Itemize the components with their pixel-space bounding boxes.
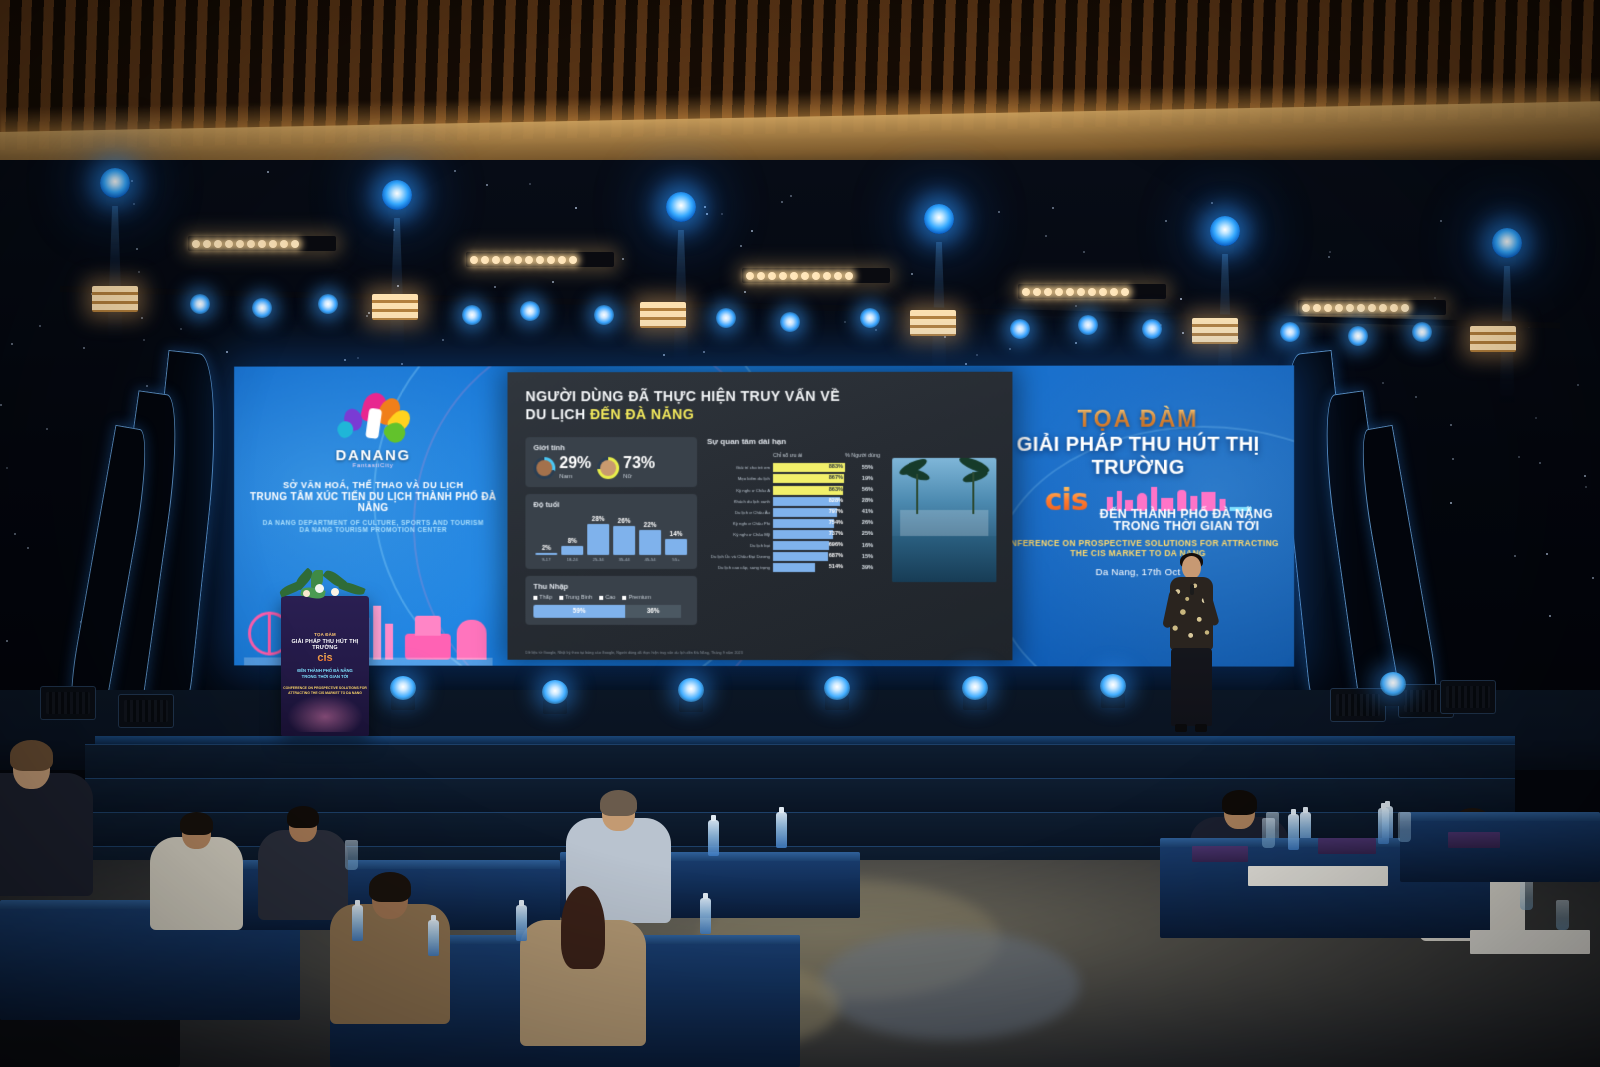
brand-line-4: DA NANG TOURISM PROMOTION CENTER [299, 527, 447, 534]
audience-hair [10, 740, 53, 771]
interest-index-value: 863% [829, 486, 843, 495]
drinking-glass [1556, 900, 1569, 930]
vip-name-card [1318, 838, 1376, 854]
danang-logo-icon [337, 392, 409, 444]
gender-stat-female: 73%Nữ [597, 456, 655, 480]
audience-hair [287, 806, 318, 828]
slide-title-line2-plain: DU LỊCH [525, 407, 589, 423]
interest-row-label: Du lịch Úc và Châu Đại Dương [707, 554, 773, 559]
floor-moving-head [960, 676, 990, 710]
par-spotlight [318, 294, 338, 314]
avatar [600, 460, 616, 476]
star-pinpoint [11, 343, 13, 345]
star-pinpoint [141, 317, 143, 319]
par-spotlight [1412, 322, 1432, 342]
vip-name-card [1448, 832, 1500, 848]
interest-row-label: Du lịch bụi [707, 543, 773, 548]
age-bar-label-cell: 9-17 [535, 555, 557, 562]
par-spotlight [1280, 322, 1300, 342]
interest-heading: Sự quan tâm dài hạn [707, 437, 996, 446]
water-bottle [1288, 814, 1299, 850]
led-strip-bar [742, 268, 890, 283]
event-english-line-1: CONFERENCE ON PROSPECTIVE SOLUTIONS FOR … [992, 538, 1284, 548]
gender-label: Nam [559, 473, 591, 480]
interest-row-label: Du lịch ở Châu Âu [707, 510, 773, 515]
event-subhead: GIẢI PHÁP THU HÚT THỊ TRƯỜNG [992, 434, 1284, 480]
floor-moving-head [822, 676, 852, 710]
interest-bar-cell: 696% [773, 541, 845, 550]
star-pinpoint [706, 213, 708, 215]
interest-index-value: 754% [829, 519, 843, 528]
document-papers [1248, 866, 1388, 886]
moving-head-spotlight [382, 180, 412, 218]
audience-hair [180, 812, 212, 835]
led-strip-bar [1298, 300, 1446, 315]
podium-flower-arrangement [275, 570, 375, 604]
income-heading: Thu Nhập [533, 582, 689, 591]
legend-swatch-icon [533, 596, 537, 600]
age-bar-value: 14% [670, 531, 683, 538]
drinking-glass [1398, 812, 1411, 842]
water-bottle [352, 905, 363, 941]
interest-bar [773, 508, 837, 517]
interest-bar [773, 552, 828, 561]
warm-blinder-panel [372, 294, 418, 320]
star-pinpoint [1083, 251, 1085, 253]
interest-index-value: 737% [829, 530, 843, 539]
audience-hair [1222, 790, 1256, 815]
vip-name-card [1192, 846, 1248, 862]
gender-label: Nữ [623, 473, 655, 480]
star-pinpoint [83, 347, 85, 349]
age-bar [613, 526, 635, 555]
star-pinpoint [1577, 384, 1579, 386]
interest-row-label: Kỳ nghỉ ở Châu Phi [707, 521, 773, 526]
income-segment: 59% [533, 605, 625, 618]
age-bar-label-cell: 25-34 [587, 555, 609, 562]
floor-moving-head [388, 676, 418, 710]
stage-wing-left [88, 352, 238, 732]
interest-row-label: Giải trí cho trẻ em [707, 465, 773, 470]
interest-col2-header: % Người dùng [845, 453, 880, 459]
par-spotlight [780, 312, 800, 332]
floor-moving-head [540, 680, 570, 714]
interest-users-value: 55% [845, 465, 873, 471]
interest-users-value: 25% [845, 531, 873, 537]
gender-ring-icon [597, 457, 619, 479]
drinking-glass [345, 840, 358, 870]
interest-bar-cell: 797% [773, 508, 845, 517]
interest-users-value: 15% [845, 554, 873, 560]
legend-swatch-icon [559, 596, 563, 600]
podium-line-1: TỌA ĐÀM [281, 632, 369, 637]
interest-bar [773, 541, 829, 550]
age-range-label: 25-34 [593, 557, 604, 562]
interest-index-value: 867% [829, 474, 843, 483]
star-pinpoint [751, 230, 753, 232]
age-bar-value: 8% [568, 538, 577, 545]
warm-blinder-panel [910, 310, 956, 336]
star-pinpoint [1165, 220, 1167, 222]
interest-users-value: 16% [845, 543, 873, 549]
water-bottle [776, 812, 787, 848]
star-pinpoint [1450, 502, 1452, 504]
age-bar-column: 26% [613, 513, 635, 555]
led-strip-bar [1018, 284, 1166, 299]
interest-bar-cell: 687% [773, 552, 845, 561]
presenter-trousers [1171, 648, 1212, 726]
income-legend-item: Cao [599, 595, 615, 601]
brand-line-2: TRUNG TÂM XÚC TIẾN DU LỊCH THÀNH PHỐ ĐÀ … [240, 492, 506, 514]
slide-title: NGƯỜI DÙNG ĐÃ THỰC HIỆN TRUY VẤN VỀ DU L… [525, 388, 996, 425]
interest-row-label: Du lịch cao cấp, sang trọng [707, 565, 773, 570]
document-papers [1470, 930, 1590, 954]
slide-footer-note: Dữ liệu từ Google, Nhật ký theo tại bảng… [525, 651, 742, 655]
age-bar-value: 28% [592, 516, 605, 523]
star-pinpoint [744, 291, 746, 293]
event-english-line-2: THE CIS MARKET TO DA NANG [992, 548, 1284, 558]
moving-head-spotlight [666, 192, 696, 230]
led-strip-bar [188, 236, 336, 251]
resort-photo [892, 458, 996, 582]
interest-index-value: 687% [829, 552, 843, 561]
star-pinpoint [1075, 342, 1077, 344]
age-bar-column: 14% [665, 513, 687, 555]
gender-heading: Giới tính [533, 443, 689, 452]
star-pinpoint [366, 315, 368, 317]
interest-bar-cell: 737% [773, 530, 845, 539]
age-bar-value: 26% [618, 518, 631, 525]
interest-bar-cell: 828% [773, 497, 845, 506]
water-bottle [708, 820, 719, 856]
star-pinpoint [1045, 235, 1047, 237]
star-pinpoint [1592, 577, 1594, 579]
event-headline: TỌA ĐÀM [992, 406, 1284, 433]
audience-torso [0, 773, 93, 896]
star-pinpoint [1450, 424, 1452, 426]
income-legend-item: Premium [623, 595, 651, 601]
podium-line-4: TRONG THỜI GIAN TỚI [281, 674, 369, 679]
interest-row-label: Kỳ nghỉ ở Châu Mỹ [707, 532, 773, 537]
cis-logo: cis [1045, 483, 1088, 518]
interest-bar-cell: 754% [773, 519, 845, 528]
star-pinpoint [1075, 305, 1077, 307]
age-bar-label-cell: 55+ [665, 555, 687, 562]
slide-title-line1: NGƯỜI DÙNG ĐÃ THỰC HIỆN TRUY VẤN VỀ [525, 389, 840, 405]
age-heading: Độ tuổi [533, 500, 689, 509]
star-pinpoint [138, 271, 140, 273]
vip-table [1400, 812, 1600, 882]
water-bottle [428, 920, 439, 956]
audience-member [0, 740, 93, 906]
par-spotlight [462, 305, 482, 325]
age-card: Độ tuổi 2%8%28%26%22%14% 9-1718-2425-343… [525, 494, 697, 569]
star-pinpoint [1052, 207, 1054, 209]
income-segment: 36% [625, 605, 681, 618]
danang-wordmark: DANANG [336, 447, 411, 464]
stage-monitor-speaker [1440, 680, 1496, 714]
age-bar [639, 530, 661, 555]
moving-head-spotlight [1492, 228, 1522, 266]
gender-percent: 73% [623, 456, 655, 472]
age-range-label: 35-44 [619, 557, 630, 562]
star-pinpoint [1009, 348, 1011, 350]
podium-line-2: GIẢI PHÁP THU HÚT THỊ TRƯỜNG [281, 639, 369, 651]
star-pinpoint [6, 640, 8, 642]
interest-index-value: 797% [829, 508, 843, 517]
par-spotlight [520, 301, 540, 321]
moving-head-spotlight [924, 204, 954, 242]
star-pinpoint [131, 180, 133, 182]
gender-card: Giới tính 29%Nam73%Nữ [525, 437, 697, 487]
age-range-label: 18-24 [567, 557, 578, 562]
par-spotlight [1348, 326, 1368, 346]
event-title-panel: TỌA ĐÀM GIẢI PHÁP THU HÚT THỊ TRƯỜNG cis [992, 406, 1284, 579]
par-spotlight [860, 308, 880, 328]
star-pinpoint [1584, 475, 1586, 477]
gender-ring-icon [533, 457, 555, 479]
star-pinpoint [663, 354, 665, 356]
par-spotlight [190, 294, 210, 314]
interest-row-label: Mẹo kiểm du lịch [707, 476, 773, 481]
star-pinpoint [401, 363, 403, 365]
floor-moving-head [676, 678, 706, 712]
interest-row-label: Kỳ nghỉ ở Châu Á [707, 488, 773, 493]
age-bar-value: 2% [542, 545, 551, 552]
par-spotlight [594, 305, 614, 325]
gender-stat-male: 29%Nam [533, 456, 591, 480]
interest-index-value: 883% [829, 463, 843, 472]
slide-title-highlight: ĐẾN ĐÀ NẴNG [590, 407, 694, 423]
moving-head-spotlight [1210, 216, 1240, 254]
floor-moving-head [1098, 674, 1128, 708]
star-pinpoint [1434, 297, 1436, 299]
stage-monitor-speaker [118, 694, 174, 728]
par-spotlight [1078, 315, 1098, 335]
audience-hair [600, 790, 636, 816]
age-range-label: 9-17 [542, 557, 551, 562]
age-bar [561, 546, 583, 555]
age-bar-column: 28% [587, 513, 609, 555]
age-bar-value: 22% [644, 522, 657, 529]
audience-hair [561, 886, 605, 969]
stage-edge-light [95, 736, 1515, 744]
star-pinpoint [875, 329, 877, 331]
interest-users-value: 26% [845, 520, 873, 526]
legend-swatch-icon [599, 596, 603, 600]
star-pinpoint [1514, 555, 1516, 557]
audience-member [520, 886, 646, 1056]
par-spotlight [252, 298, 272, 318]
stage-wing-right [1286, 352, 1446, 732]
avatar [536, 460, 552, 476]
stage-monitor-speaker [40, 686, 96, 720]
interest-index-value: 828% [829, 497, 843, 506]
income-legend-item: Thấp [533, 595, 552, 601]
podium-cis-logo: cis [281, 652, 369, 664]
speaker-podium: TỌA ĐÀM GIẢI PHÁP THU HÚT THỊ TRƯỜNG cis… [281, 596, 369, 736]
led-video-wall: DANANG FantastiCity SỞ VĂN HOÁ, THỂ THAO… [234, 365, 1294, 666]
age-bar [587, 524, 609, 556]
event-date-line: Da Nang, 17th Oct [992, 567, 1284, 578]
conference-stage-photo: DANANG FantastiCity SỞ VĂN HOÁ, THỂ THAO… [0, 0, 1600, 1067]
presentation-slide: NGƯỜI DÙNG ĐÃ THỰC HIỆN TRUY VẤN VỀ DU L… [507, 372, 1012, 661]
audience-member [150, 812, 243, 937]
interest-bar [773, 519, 834, 528]
interest-bar-cell: 514% [773, 563, 845, 572]
podium-line-3: ĐẾN THÀNH PHỐ ĐÀ NẴNG [281, 668, 369, 673]
interest-row-label: Khách du lịch xanh [707, 499, 773, 504]
led-strip-bar [466, 252, 614, 267]
par-spotlight [716, 308, 736, 328]
interest-users-value: 28% [845, 498, 873, 504]
interest-bar-cell: 867% [773, 474, 845, 483]
star-pinpoint [1329, 251, 1331, 253]
interest-bar-cell: 883% [773, 463, 845, 472]
warm-blinder-panel [1470, 326, 1516, 352]
interest-users-value: 41% [845, 509, 873, 515]
drinking-glass [1262, 818, 1275, 848]
interest-users-value: 56% [845, 487, 873, 493]
warm-blinder-panel [1192, 318, 1238, 344]
brand-line-3: DA NANG DEPARTMENT OF CULTURE, SPORTS AN… [263, 520, 484, 527]
floor-moving-head [1378, 672, 1408, 706]
audience-hair [369, 872, 411, 902]
age-bar-column: 2% [535, 513, 557, 555]
interest-col1-header: Chỉ số ưu ái [773, 453, 845, 459]
age-range-label: 45-54 [644, 557, 655, 562]
star-pinpoint [133, 203, 135, 205]
income-card: Thu Nhập ThấpTrung BìnhCaoPremium 59%36% [525, 576, 697, 625]
interest-index-value: 514% [829, 563, 843, 572]
brand-line-1: SỞ VĂN HOÁ, THỂ THAO VÀ DU LỊCH [283, 480, 464, 490]
water-bottle [516, 905, 527, 941]
age-bar-label-cell: 35-44 [613, 555, 635, 562]
age-bar-label-cell: 18-24 [561, 555, 583, 562]
warm-blinder-panel [640, 302, 686, 328]
interest-bar [773, 530, 833, 539]
gender-percent: 29% [559, 456, 591, 472]
age-range-label: 55+ [672, 557, 679, 562]
interest-bar-cell: 863% [773, 486, 845, 495]
age-bar-column: 8% [561, 513, 583, 555]
interest-users-value: 19% [845, 476, 873, 482]
age-bar-label-cell: 45-54 [639, 555, 661, 562]
event-line-trong: TRONG THỜI GIAN TỚI [1089, 519, 1284, 533]
interest-users-value: 39% [845, 565, 873, 571]
age-bar-column: 22% [639, 513, 661, 555]
age-bar [665, 539, 687, 555]
star-pinpoint [965, 363, 967, 365]
interest-bar [773, 563, 815, 572]
audience-torso [150, 837, 243, 930]
moving-head-spotlight [100, 168, 130, 206]
presenter-on-stage [1163, 556, 1219, 732]
danang-tagline: FantastiCity [353, 463, 394, 469]
drinking-glass [1520, 880, 1533, 910]
par-spotlight [1142, 319, 1162, 339]
interest-index-value: 696% [829, 541, 843, 550]
presenter-head [1182, 556, 1201, 579]
water-bottle [700, 898, 711, 934]
star-pinpoint [1180, 298, 1182, 300]
legend-swatch-icon [623, 596, 627, 600]
par-spotlight [1010, 319, 1030, 339]
income-legend-item: Trung Bình [559, 595, 592, 601]
warm-blinder-panel [92, 286, 138, 312]
water-bottle [1378, 808, 1389, 844]
handheld-microphone [1190, 584, 1194, 595]
star-pinpoint [14, 533, 16, 535]
